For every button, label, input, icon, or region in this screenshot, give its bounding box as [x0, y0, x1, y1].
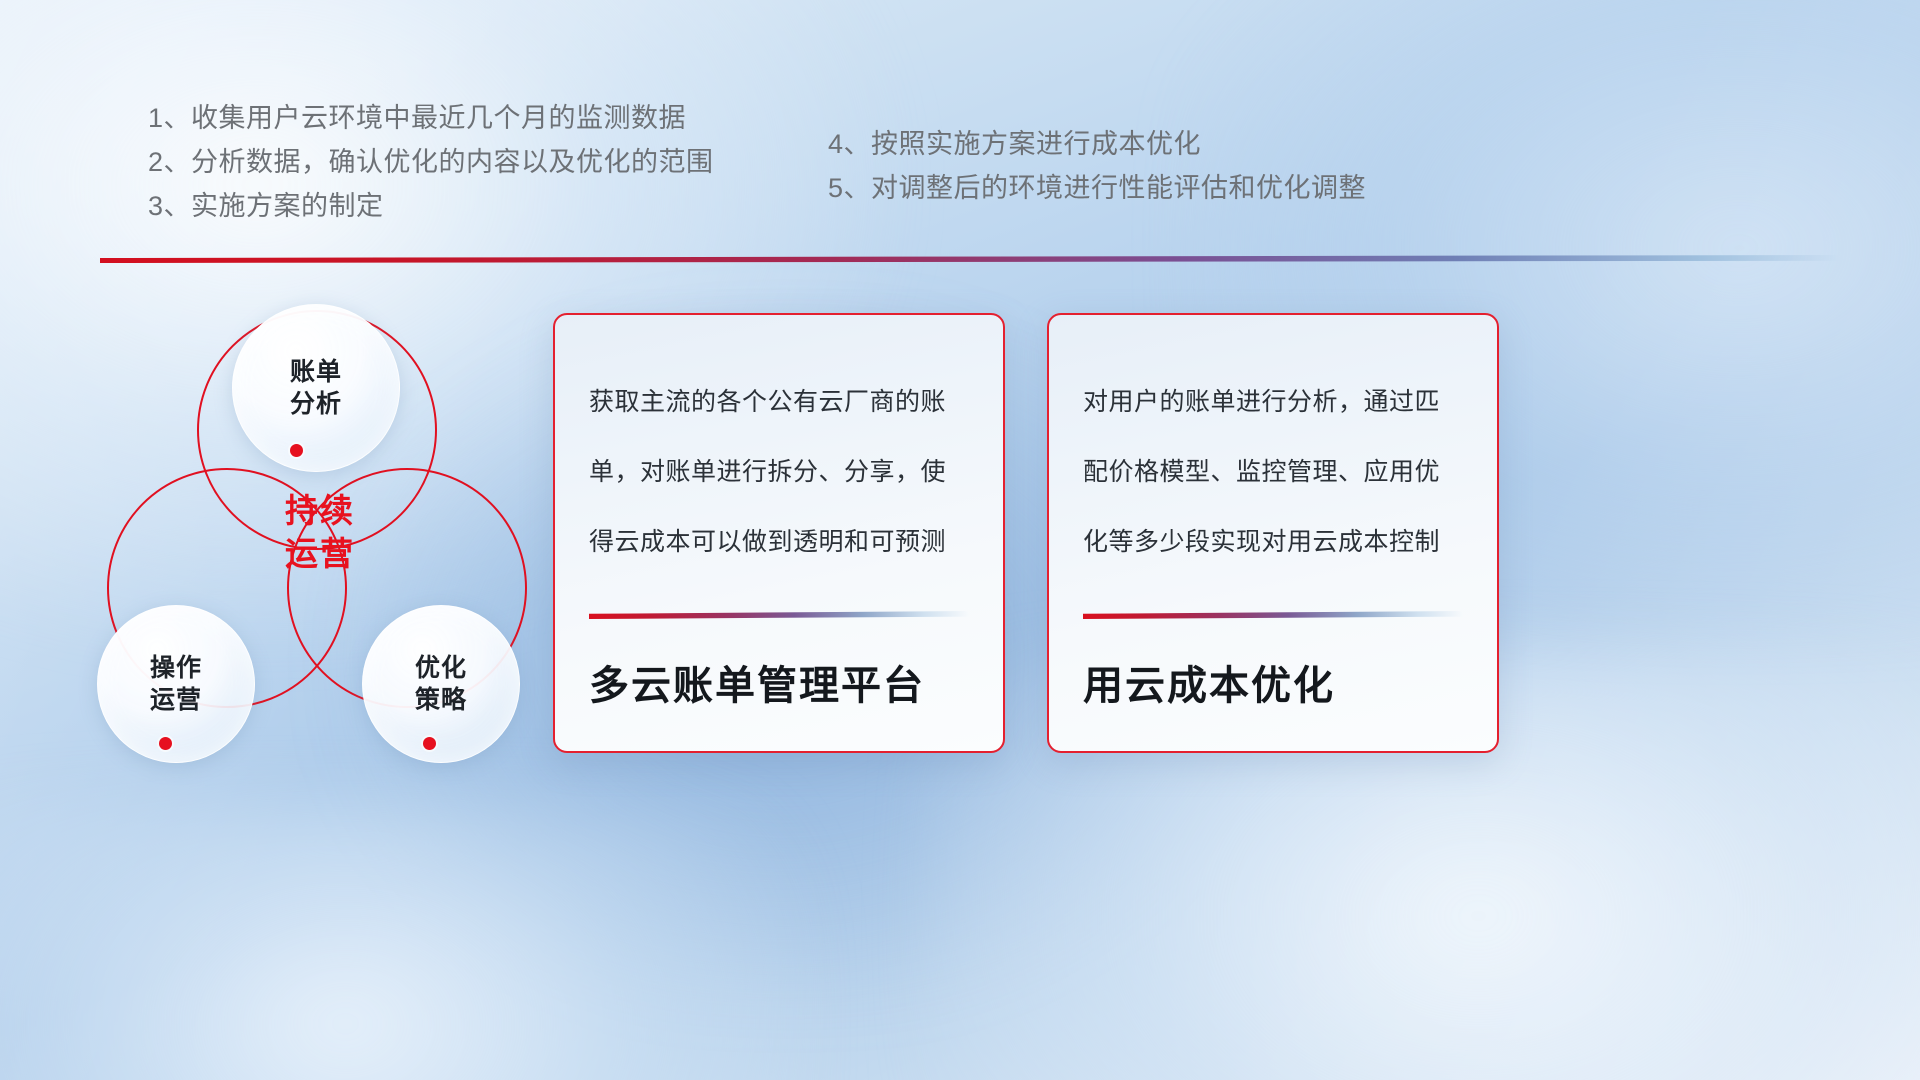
step-item-2: 2、分析数据，确认优化的内容以及优化的范围 — [148, 140, 714, 184]
venn-node-dot-top — [290, 444, 303, 457]
venn-bubble-billing-analysis[interactable]: 账单 分析 — [232, 304, 400, 472]
card-body-text: 获取主流的各个公有云厂商的账单，对账单进行拆分、分享，使得云成本可以做到透明和可… — [589, 367, 969, 577]
card-cloud-cost-optimization[interactable]: 对用户的账单进行分析，通过匹配价格模型、监控管理、应用优化等多少段实现对用云成本… — [1047, 313, 1499, 753]
step-item-1: 1、收集用户云环境中最近几个月的监测数据 — [148, 96, 714, 140]
venn-center-label-line1: 持续 — [240, 490, 400, 533]
card-title: 多云账单管理平台 — [589, 619, 969, 751]
steps-right-column: 4、按照实施方案进行成本优化 5、对调整后的环境进行性能评估和优化调整 — [828, 122, 1366, 210]
venn-bubble-operations[interactable]: 操作 运营 — [97, 605, 255, 763]
step-item-5: 5、对调整后的环境进行性能评估和优化调整 — [828, 166, 1366, 210]
card-multicloud-billing-platform[interactable]: 获取主流的各个公有云厂商的账单，对账单进行拆分、分享，使得云成本可以做到透明和可… — [553, 313, 1005, 753]
venn-bubble-line1: 优化 — [415, 652, 467, 684]
card-divider-line — [1083, 611, 1463, 619]
venn-bubble-line1: 操作 — [150, 652, 202, 684]
card-body-text: 对用户的账单进行分析，通过匹配价格模型、监控管理、应用优化等多少段实现对用云成本… — [1083, 367, 1463, 577]
venn-center-label-line2: 运营 — [240, 533, 400, 576]
card-title: 用云成本优化 — [1083, 619, 1463, 751]
card-divider-line — [589, 611, 969, 619]
venn-bubble-line2: 分析 — [290, 388, 342, 420]
step-item-3: 3、实施方案的制定 — [148, 184, 714, 228]
venn-bubble-line1: 账单 — [290, 356, 342, 388]
venn-bubble-label: 操作 运营 — [150, 652, 202, 716]
venn-bubble-label: 优化 策略 — [415, 652, 467, 716]
venn-node-dot-right — [423, 737, 436, 750]
venn-bubble-line2: 运营 — [150, 684, 202, 716]
venn-bubble-label: 账单 分析 — [290, 356, 342, 420]
venn-bubble-optimization-strategy[interactable]: 优化 策略 — [362, 605, 520, 763]
venn-bubble-line2: 策略 — [415, 684, 467, 716]
venn-center-label: 持续 运营 — [240, 490, 400, 576]
venn-node-dot-left — [159, 737, 172, 750]
venn-diagram: 持续 运营 账单 分析 操作 运营 优化 策略 — [85, 300, 555, 770]
steps-left-column: 1、收集用户云环境中最近几个月的监测数据 2、分析数据，确认优化的内容以及优化的… — [148, 96, 714, 228]
step-item-4: 4、按照实施方案进行成本优化 — [828, 122, 1366, 166]
